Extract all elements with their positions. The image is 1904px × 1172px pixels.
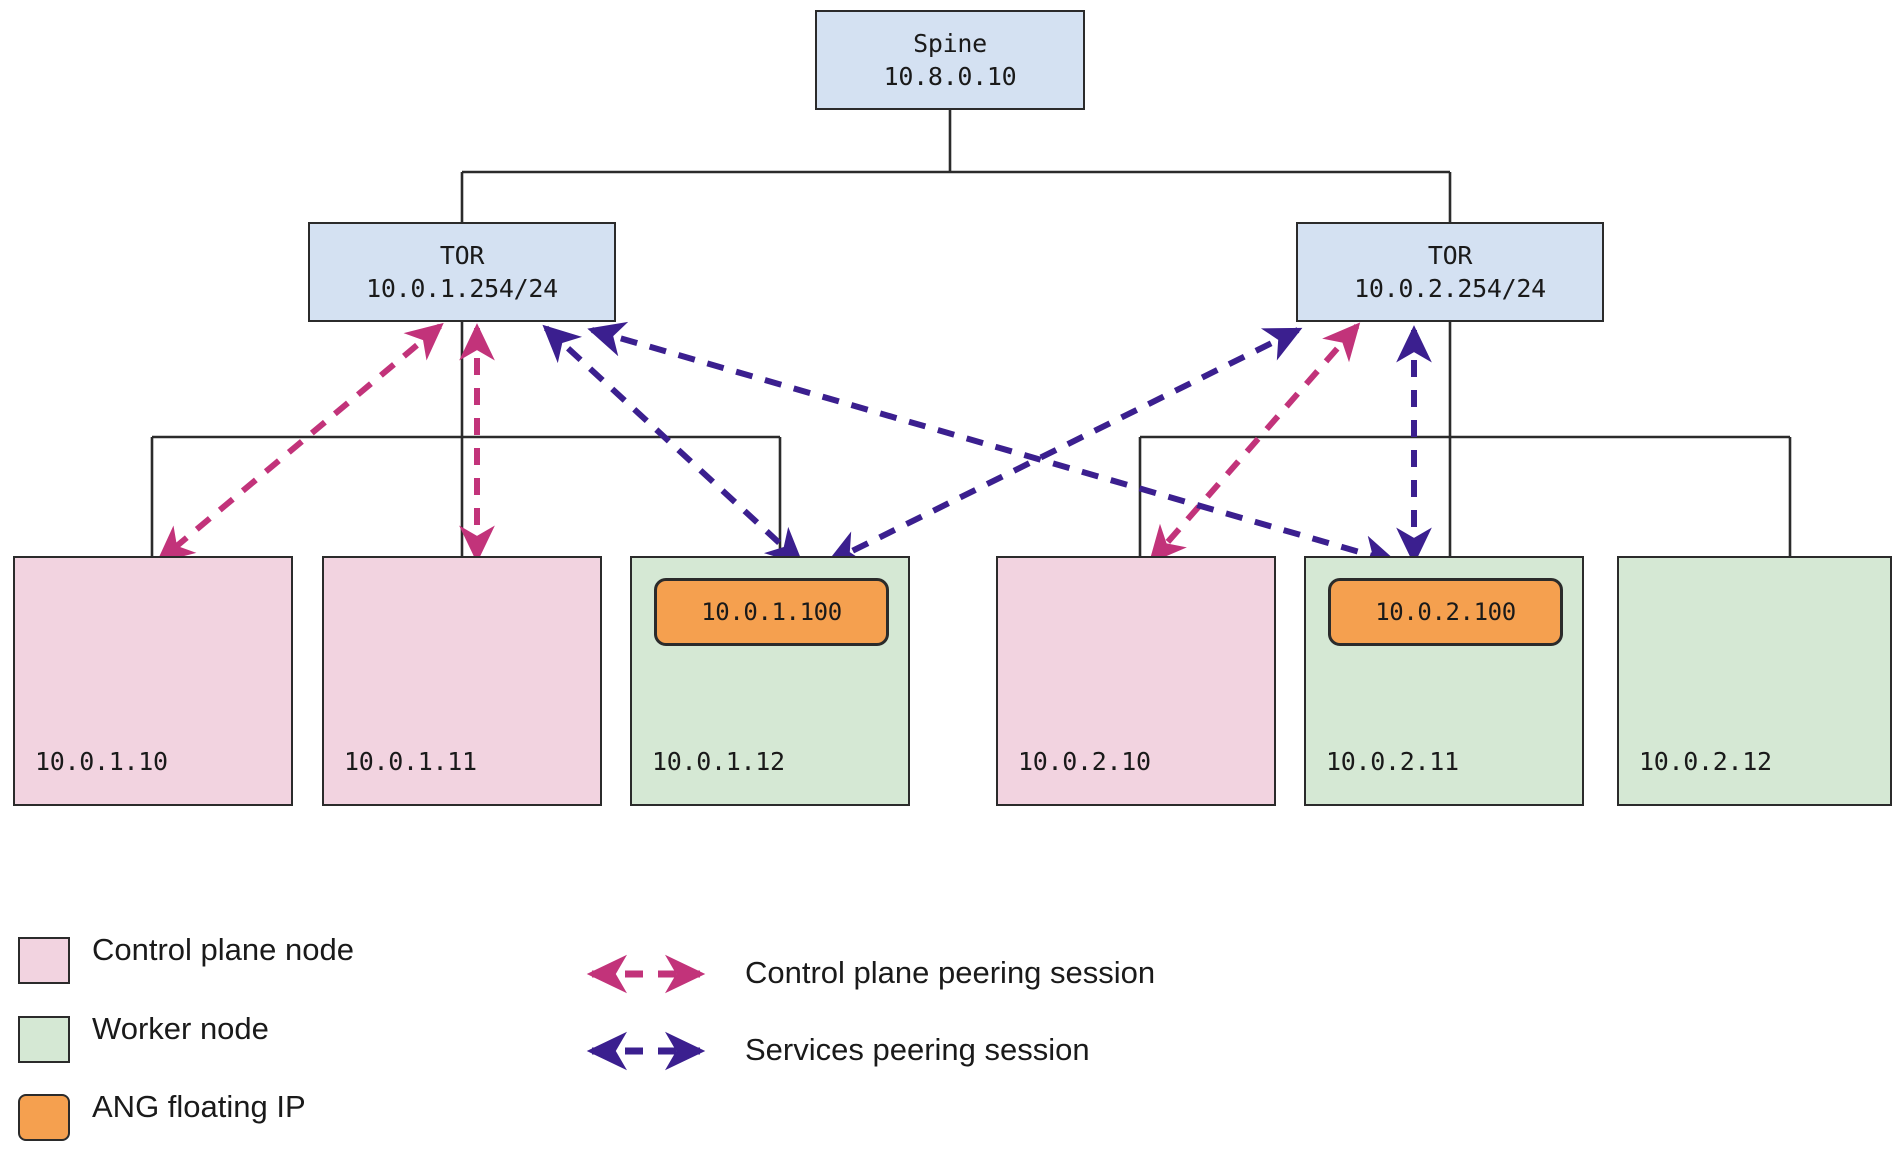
tor1-address: 10.0.1.254/24 xyxy=(366,272,558,305)
legend-label-ang-floating-ip: ANG floating IP xyxy=(92,1089,306,1125)
node-address: 10.0.1.10 xyxy=(35,747,168,776)
peer-tor1-node1 xyxy=(160,326,440,560)
legend-swatch-worker-node xyxy=(18,1016,70,1063)
tor-switch-rack1[interactable]: TOR 10.0.1.254/24 xyxy=(308,222,616,322)
node-control-plane-10-0-1-11[interactable]: 10.0.1.11 xyxy=(322,556,602,806)
peer-tor1-node3 xyxy=(546,328,800,562)
peer-tor2-node4 xyxy=(1152,326,1357,560)
legend-label-services-peering: Services peering session xyxy=(745,1032,1090,1068)
node-address: 10.0.1.12 xyxy=(652,747,785,776)
node-address: 10.0.1.11 xyxy=(344,747,477,776)
legend-arrow-glyphs xyxy=(592,974,700,1051)
spine-address: 10.8.0.10 xyxy=(884,60,1017,93)
tor2-role: TOR xyxy=(1428,239,1472,272)
peer-tor1-node5 xyxy=(592,330,1394,562)
tor-switch-rack2[interactable]: TOR 10.0.2.254/24 xyxy=(1296,222,1604,322)
node-control-plane-10-0-1-10[interactable]: 10.0.1.10 xyxy=(13,556,293,806)
peer-tor2-node3 xyxy=(830,330,1298,562)
legend-label-control-plane-node: Control plane node xyxy=(92,932,354,968)
node-worker-10-0-2-11[interactable]: 10.0.2.100 10.0.2.11 xyxy=(1304,556,1584,806)
node-address: 10.0.2.10 xyxy=(1018,747,1151,776)
floating-ip-address: 10.0.1.100 xyxy=(701,598,842,626)
spine-switch[interactable]: Spine 10.8.0.10 xyxy=(815,10,1085,110)
legend-swatch-control-plane-node xyxy=(18,937,70,984)
floating-ip-badge[interactable]: 10.0.1.100 xyxy=(654,578,889,646)
floating-ip-address: 10.0.2.100 xyxy=(1375,598,1516,626)
spine-role: Spine xyxy=(913,27,987,60)
legend-swatch-ang-floating-ip xyxy=(18,1094,70,1141)
node-address: 10.0.2.12 xyxy=(1639,747,1772,776)
node-address: 10.0.2.11 xyxy=(1326,747,1459,776)
legend-label-control-plane-peering: Control plane peering session xyxy=(745,955,1155,991)
tor1-role: TOR xyxy=(440,239,484,272)
network-topology-diagram: Spine 10.8.0.10 TOR 10.0.1.254/24 TOR 10… xyxy=(0,0,1904,1172)
legend-label-worker-node: Worker node xyxy=(92,1011,269,1047)
tor2-address: 10.0.2.254/24 xyxy=(1354,272,1546,305)
tree-links xyxy=(152,110,1790,556)
services-peering-links xyxy=(546,328,1414,562)
node-worker-10-0-2-12[interactable]: 10.0.2.12 xyxy=(1617,556,1892,806)
floating-ip-badge[interactable]: 10.0.2.100 xyxy=(1328,578,1563,646)
node-control-plane-10-0-2-10[interactable]: 10.0.2.10 xyxy=(996,556,1276,806)
control-plane-peering-links xyxy=(160,326,1357,560)
node-worker-10-0-1-12[interactable]: 10.0.1.100 10.0.1.12 xyxy=(630,556,910,806)
